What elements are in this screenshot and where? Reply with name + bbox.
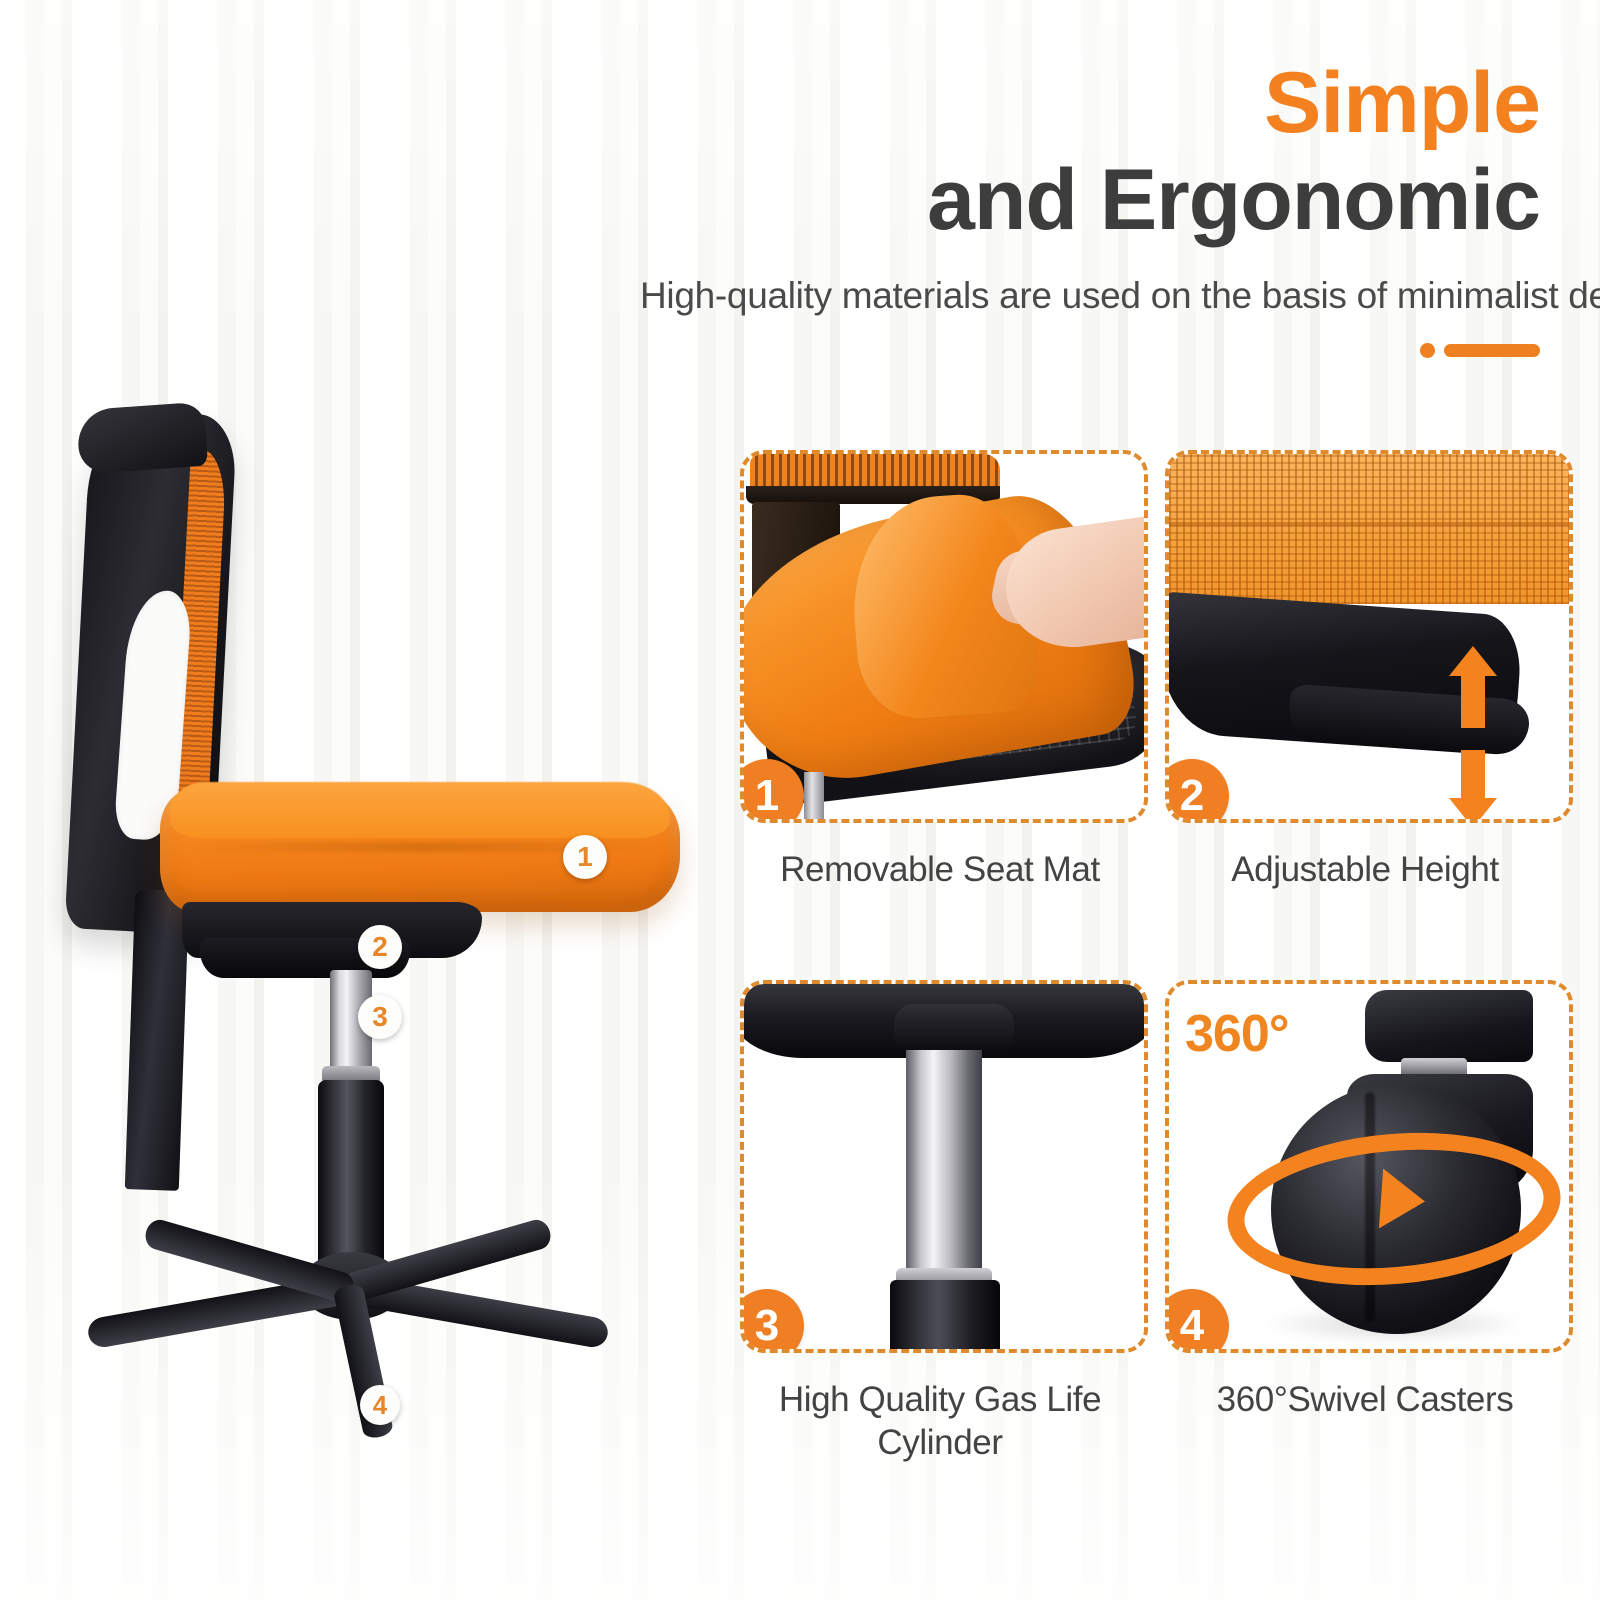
page-subtitle: High-quality materials are used on the b… bbox=[640, 275, 1540, 317]
backrest-support-post bbox=[125, 889, 189, 1191]
accent-bar-icon bbox=[1444, 344, 1540, 357]
chair-marker-2: 2 bbox=[358, 925, 402, 969]
orange-mesh-panel bbox=[1169, 454, 1569, 604]
chair-marker-1: 1 bbox=[563, 835, 607, 879]
feature-grid: 1 Removable Seat Mat 2 bbox=[740, 450, 1580, 1530]
feature-photo-1-art bbox=[744, 454, 1144, 819]
feature-cell-swivel-casters: 360° 4 360°Swivel Casters bbox=[1165, 980, 1565, 1422]
header-block: Simple and Ergonomic High-quality materi… bbox=[640, 60, 1540, 358]
cylinder-stem bbox=[804, 772, 824, 819]
chrome-cylinder-tube bbox=[906, 1050, 982, 1276]
feature-cell-gas-cylinder: 3 High Quality Gas Life Cylinder bbox=[740, 980, 1140, 1464]
mesh-backrest-fragment bbox=[750, 454, 1000, 488]
backrest-top-cap bbox=[76, 402, 208, 475]
accent-divider bbox=[640, 343, 1540, 358]
rotation-arrow-icon bbox=[1379, 1169, 1427, 1232]
feature-caption-2: Adjustable Height bbox=[1165, 849, 1565, 892]
seat-plate-rib bbox=[894, 1004, 1014, 1054]
gas-cylinder-body bbox=[318, 1080, 384, 1270]
feature-photo-3: 3 bbox=[740, 980, 1148, 1353]
feature-photo-4-art: 360° bbox=[1169, 984, 1569, 1349]
feature-photo-1: 1 bbox=[740, 450, 1148, 823]
cylinder-housing bbox=[890, 1280, 1000, 1349]
feature-caption-1: Removable Seat Mat bbox=[740, 849, 1140, 892]
page-title-line-1: Simple bbox=[640, 60, 1540, 148]
feature-cell-adjustable-height: 2 Adjustable Height bbox=[1165, 450, 1565, 892]
feature-photo-3-art bbox=[744, 984, 1144, 1349]
chair-marker-4: 4 bbox=[360, 1385, 400, 1425]
feature-caption-3: High Quality Gas Life Cylinder bbox=[740, 1379, 1140, 1464]
seat-cushion-highlight bbox=[170, 782, 670, 838]
caster-mount-stem bbox=[1365, 990, 1533, 1062]
feature-cell-removable-seat-mat: 1 Removable Seat Mat bbox=[740, 450, 1140, 892]
infographic-canvas: Simple and Ergonomic High-quality materi… bbox=[0, 0, 1600, 1600]
feature-photo-2: 2 bbox=[1165, 450, 1573, 823]
chair-marker-3: 3 bbox=[358, 995, 402, 1039]
page-title-line-2: and Ergonomic bbox=[640, 154, 1540, 247]
degree-label: 360° bbox=[1185, 1004, 1289, 1064]
mesh-seam bbox=[1169, 522, 1569, 526]
accent-dot-icon bbox=[1420, 343, 1435, 358]
feature-caption-4: 360°Swivel Casters bbox=[1165, 1379, 1565, 1422]
feature-photo-4: 360° 4 bbox=[1165, 980, 1573, 1353]
feature-photo-2-art bbox=[1169, 454, 1569, 819]
